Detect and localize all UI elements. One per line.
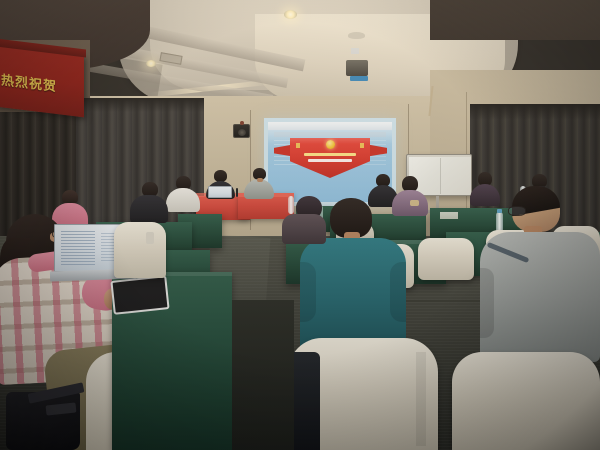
banner-text: 热烈祝贺	[1, 69, 57, 95]
chair-foreground-right	[452, 352, 600, 450]
slide-app-toolbar	[268, 122, 392, 130]
curtain-track-left	[72, 98, 204, 112]
wall-speaker	[233, 124, 250, 138]
speaker-cone-icon	[238, 129, 246, 136]
laptop-content-rows	[61, 231, 95, 267]
conference-room-photo: 热烈祝贺	[0, 0, 600, 450]
teal-shirt-shading	[300, 262, 316, 322]
attendee-r3-body-f	[470, 184, 500, 206]
recessed-downlight	[146, 60, 156, 67]
attendee-behind-teal-body	[282, 214, 326, 244]
slide-ribbon-banner	[290, 138, 370, 178]
presenter-laptop	[208, 186, 232, 198]
tablet[interactable]	[110, 275, 169, 315]
speaker-indicator-icon	[240, 121, 244, 125]
projector-mount-rod	[355, 36, 358, 58]
ceiling-dark-recess-right	[430, 0, 600, 40]
projector-label	[351, 48, 359, 54]
whiteboard-crease	[440, 158, 441, 194]
flag-icon-left	[296, 143, 300, 148]
chair-tie	[146, 232, 154, 244]
curtain-track-right	[470, 104, 600, 120]
documents	[440, 212, 458, 219]
microphone	[236, 188, 238, 197]
water-bottle	[288, 196, 294, 214]
slide-title-line-2	[308, 159, 352, 162]
chair-row2	[418, 238, 474, 280]
projector-mount-plate	[348, 32, 365, 39]
projector-badge	[350, 76, 368, 81]
chair-fold	[416, 352, 426, 446]
bottle-cap	[497, 209, 502, 213]
attendee-r3-dark-suit	[130, 195, 168, 223]
ceiling-projector	[346, 60, 368, 76]
glasses-icon	[508, 206, 526, 216]
slide-header-strip	[274, 132, 386, 137]
grey-shirt-shading	[480, 268, 494, 338]
emblem-icon	[326, 140, 335, 149]
flag-icon-right	[360, 143, 364, 148]
shoulder-badge	[410, 200, 419, 206]
recessed-downlight	[284, 10, 297, 19]
slide-title-line-1	[304, 153, 356, 156]
floor-gap-shadow	[232, 300, 294, 450]
chair-foreground-left	[114, 222, 166, 278]
presenter-right-neck	[257, 178, 263, 182]
attendee-r3-white-shirt	[166, 188, 200, 212]
teal-shirt-shading	[390, 262, 406, 322]
